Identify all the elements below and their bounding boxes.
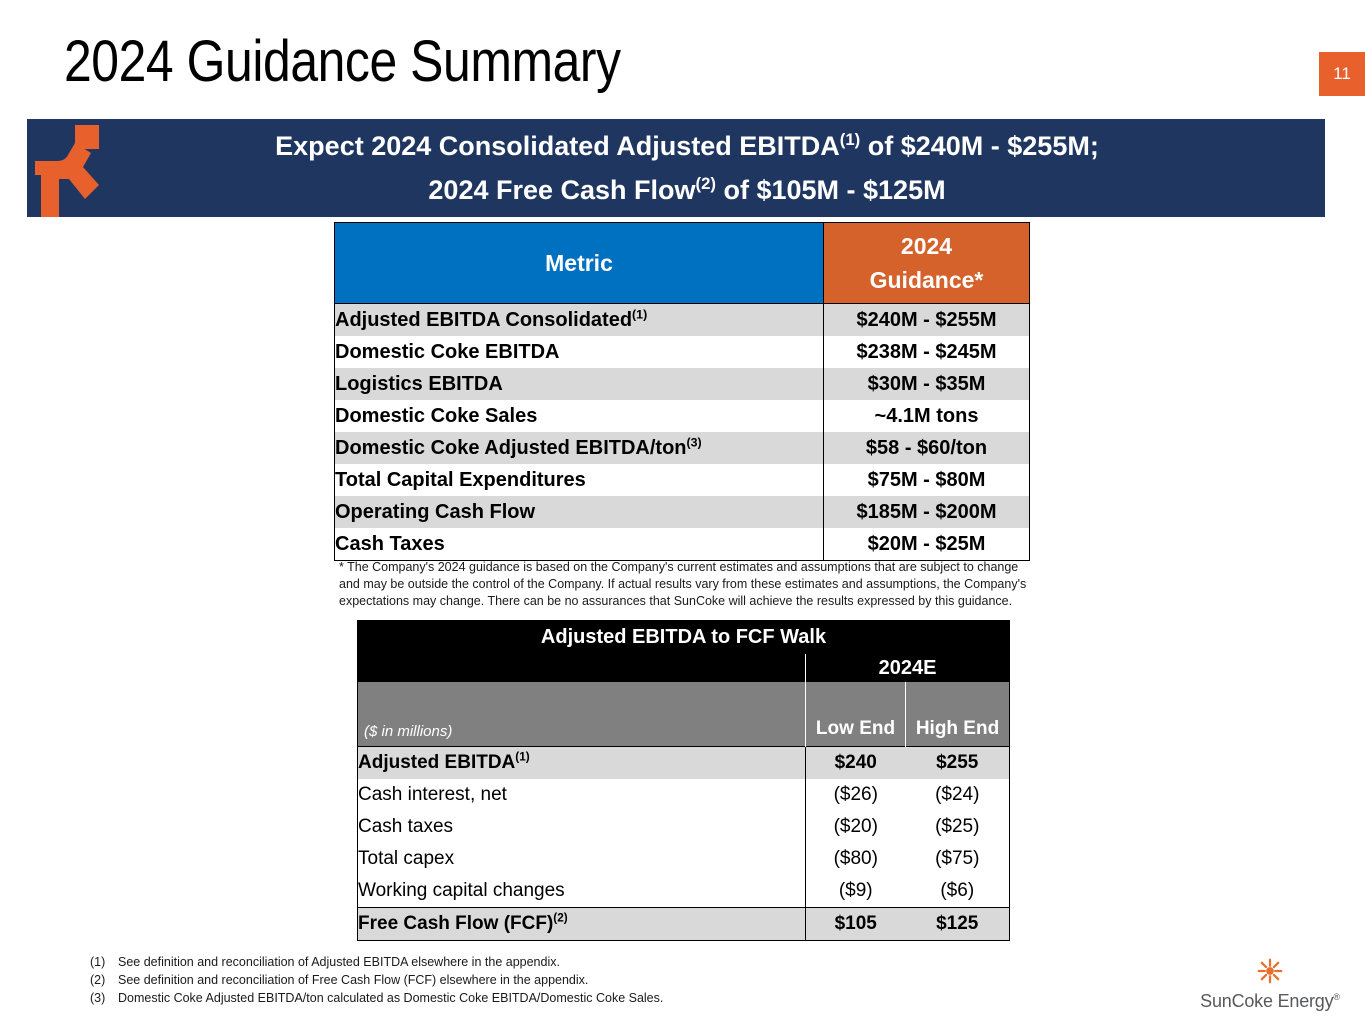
guidance-row-metric: Total Capital Expenditures	[335, 464, 824, 496]
guidance-row-value: $238M - $245M	[824, 336, 1030, 368]
fcf-title-row: Adjusted EBITDA to FCF Walk	[358, 621, 1010, 654]
fcf-year-spacer	[358, 654, 806, 683]
guidance-table-row: Operating Cash Flow$185M - $200M	[335, 496, 1030, 528]
banner-line1-text-b: of $240M - $255M;	[860, 131, 1099, 161]
banner-line-1: Expect 2024 Consolidated Adjusted EBITDA…	[275, 124, 1099, 168]
fcf-row-high-value: ($6)	[906, 875, 1010, 908]
fcf-row-label-text: Working capital changes	[358, 880, 565, 901]
fcf-row-low-value: $240	[806, 747, 906, 780]
fcf-column-high-end: High End	[906, 682, 1010, 747]
footnote-item: (2)See definition and reconciliation of …	[90, 971, 663, 989]
banner-line1-superscript: (1)	[840, 130, 860, 149]
guidance-row-metric: Domestic Coke Adjusted EBITDA/ton(3)	[335, 432, 824, 464]
suncoke-wordmark-text: SunCoke Energy	[1200, 991, 1333, 1011]
fcf-row-label: Cash interest, net	[358, 779, 806, 811]
guidance-table-header-row: Metric 2024 Guidance*	[335, 223, 1030, 304]
guidance-table-row: Domestic Coke Sales~4.1M tons	[335, 400, 1030, 432]
fcf-row-superscript: (2)	[553, 912, 567, 925]
registered-mark: ®	[1333, 992, 1339, 1002]
guidance-row-value: $30M - $35M	[824, 368, 1030, 400]
suncoke-energy-logo: SunCoke Energy®	[1195, 958, 1345, 1016]
guidance-row-metric-label: Adjusted EBITDA Consolidated	[335, 309, 632, 331]
page-title: 2024 Guidance Summary	[64, 28, 621, 96]
fcf-row-low-value: $105	[806, 908, 906, 941]
guidance-row-metric-label: Operating Cash Flow	[335, 501, 535, 523]
guidance-table: Metric 2024 Guidance* Adjusted EBITDA Co…	[334, 222, 1030, 561]
guidance-row-metric-label: Total Capital Expenditures	[335, 469, 586, 491]
fcf-table-row: Adjusted EBITDA(1)$240$255	[358, 747, 1010, 780]
fcf-row-label-text: Total capex	[358, 848, 454, 869]
page-number-badge: 11	[1319, 52, 1365, 96]
guidance-header-value-line1: 2024	[824, 229, 1029, 263]
banner-line2-superscript: (2)	[696, 174, 716, 193]
guidance-header-value-line2: Guidance*	[824, 263, 1029, 297]
fcf-column-low-end: Low End	[806, 682, 906, 747]
fcf-row-label: Total capex	[358, 843, 806, 875]
suncoke-sun-icon	[1257, 958, 1283, 984]
banner-line2-text-a: 2024 Free Cash Flow	[428, 175, 695, 205]
guidance-row-value: $240M - $255M	[824, 304, 1030, 337]
fcf-year-header: 2024E	[806, 654, 1010, 683]
guidance-row-metric: Domestic Coke Sales	[335, 400, 824, 432]
guidance-header-value: 2024 Guidance*	[824, 223, 1030, 304]
fcf-units-label: ($ in millions)	[358, 682, 806, 747]
fcf-row-label: Working capital changes	[358, 875, 806, 908]
guidance-table-row: Total Capital Expenditures$75M - $80M	[335, 464, 1030, 496]
guidance-row-metric: Operating Cash Flow	[335, 496, 824, 528]
fcf-row-low-value: ($20)	[806, 811, 906, 843]
fcf-row-label: Cash taxes	[358, 811, 806, 843]
banner-line2-text-b: of $105M - $125M	[716, 175, 946, 205]
guidance-table-row: Adjusted EBITDA Consolidated(1)$240M - $…	[335, 304, 1030, 337]
guidance-table-row: Logistics EBITDA$30M - $35M	[335, 368, 1030, 400]
fcf-row-label-text: Free Cash Flow (FCF)	[358, 913, 553, 934]
fcf-row-low-value: ($9)	[806, 875, 906, 908]
banner-line1-text-a: Expect 2024 Consolidated Adjusted EBITDA	[275, 131, 840, 161]
suncoke-arrow-mark-icon	[35, 119, 121, 217]
fcf-year-row: 2024E	[358, 654, 1010, 683]
fcf-table-row: Cash interest, net($26)($24)	[358, 779, 1010, 811]
footnote-item: (1)See definition and reconciliation of …	[90, 953, 663, 971]
fcf-table-row: Working capital changes($9)($6)	[358, 875, 1010, 908]
guidance-row-metric-label: Cash Taxes	[335, 533, 445, 555]
guidance-row-metric: Cash Taxes	[335, 528, 824, 561]
fcf-row-label: Adjusted EBITDA(1)	[358, 747, 806, 780]
guidance-row-metric-label: Domestic Coke Sales	[335, 405, 537, 427]
guidance-table-row: Cash Taxes$20M - $25M	[335, 528, 1030, 561]
guidance-row-metric: Logistics EBITDA	[335, 368, 824, 400]
footnote-marker: (1)	[90, 953, 118, 971]
fcf-row-high-value: $125	[906, 908, 1010, 941]
guidance-row-metric-label: Domestic Coke EBITDA	[335, 341, 560, 363]
guidance-row-value: $75M - $80M	[824, 464, 1030, 496]
suncoke-wordmark: SunCoke Energy®	[1195, 991, 1345, 1012]
guidance-row-value: ~4.1M tons	[824, 400, 1030, 432]
fcf-row-superscript: (1)	[515, 751, 529, 764]
fcf-table-row: Free Cash Flow (FCF)(2)$105$125	[358, 908, 1010, 941]
footnote-marker: (3)	[90, 989, 118, 1007]
fcf-row-high-value: $255	[906, 747, 1010, 780]
footnote-item: (3)Domestic Coke Adjusted EBITDA/ton cal…	[90, 989, 663, 1007]
guidance-row-metric: Adjusted EBITDA Consolidated(1)	[335, 304, 824, 337]
footnote-text: See definition and reconciliation of Adj…	[118, 953, 560, 971]
footnote-marker: (2)	[90, 971, 118, 989]
guidance-disclaimer-note: * The Company's 2024 guidance is based o…	[339, 559, 1029, 610]
fcf-table-row: Cash taxes($20)($25)	[358, 811, 1010, 843]
guidance-table-row: Domestic Coke EBITDA$238M - $245M	[335, 336, 1030, 368]
fcf-table-row: Total capex($80)($75)	[358, 843, 1010, 875]
guidance-header-metric: Metric	[335, 223, 824, 304]
fcf-row-label-text: Cash interest, net	[358, 784, 507, 805]
footnotes-list: (1)See definition and reconciliation of …	[90, 953, 663, 1007]
fcf-row-label-text: Cash taxes	[358, 816, 453, 837]
fcf-subhead-row: ($ in millions) Low End High End	[358, 682, 1010, 747]
guidance-row-value: $20M - $25M	[824, 528, 1030, 561]
guidance-row-metric: Domestic Coke EBITDA	[335, 336, 824, 368]
fcf-row-label-text: Adjusted EBITDA	[358, 752, 515, 773]
footnote-text: Domestic Coke Adjusted EBITDA/ton calcul…	[118, 989, 663, 1007]
guidance-row-value: $185M - $200M	[824, 496, 1030, 528]
guidance-row-superscript: (1)	[632, 307, 647, 321]
guidance-row-value: $58 - $60/ton	[824, 432, 1030, 464]
guidance-row-metric-label: Domestic Coke Adjusted EBITDA/ton	[335, 437, 687, 459]
banner-line-2: 2024 Free Cash Flow(2) of $105M - $125M	[428, 168, 945, 212]
fcf-walk-table: Adjusted EBITDA to FCF Walk 2024E ($ in …	[357, 620, 1010, 941]
fcf-row-low-value: ($26)	[806, 779, 906, 811]
headline-banner: Expect 2024 Consolidated Adjusted EBITDA…	[27, 119, 1325, 217]
guidance-table-row: Domestic Coke Adjusted EBITDA/ton(3)$58 …	[335, 432, 1030, 464]
fcf-row-high-value: ($75)	[906, 843, 1010, 875]
fcf-table-title: Adjusted EBITDA to FCF Walk	[358, 621, 1010, 654]
guidance-row-superscript: (3)	[687, 435, 702, 449]
fcf-row-high-value: ($25)	[906, 811, 1010, 843]
fcf-row-label: Free Cash Flow (FCF)(2)	[358, 908, 806, 941]
guidance-row-metric-label: Logistics EBITDA	[335, 373, 503, 395]
banner-headline: Expect 2024 Consolidated Adjusted EBITDA…	[137, 119, 1237, 217]
fcf-row-low-value: ($80)	[806, 843, 906, 875]
fcf-row-high-value: ($24)	[906, 779, 1010, 811]
footnote-text: See definition and reconciliation of Fre…	[118, 971, 588, 989]
